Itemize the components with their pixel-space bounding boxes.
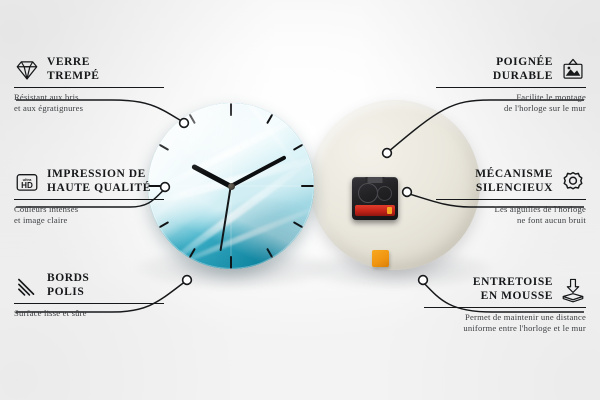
callout-title-line2: POLIS bbox=[47, 286, 89, 300]
callout-desc-line2: uniforme entre l'horloge et le mur bbox=[424, 323, 586, 334]
foam-spacer bbox=[372, 250, 389, 267]
ultra-hd-badge-icon: ultra HD bbox=[14, 169, 40, 195]
callout-desc-line1: Facilite le montage bbox=[436, 92, 586, 103]
callout-divider bbox=[14, 303, 164, 304]
callout-divider bbox=[436, 87, 586, 88]
callout-entretoise-en-mousse: ENTRETOISE EN MOUSSE Permet de maintenir… bbox=[424, 276, 586, 334]
callout-title-line2: DURABLE bbox=[493, 70, 553, 84]
callout-title-line1: MÉCANISME bbox=[475, 168, 553, 182]
callout-desc-line2: ne font aucun bruit bbox=[436, 215, 586, 226]
mechanism-dial-secondary-icon bbox=[377, 186, 392, 201]
diamond-icon bbox=[14, 57, 40, 83]
callout-divider bbox=[424, 307, 586, 308]
callout-desc-line1: Résistant aux bris bbox=[14, 92, 164, 103]
clock-front-view bbox=[148, 103, 314, 269]
battery bbox=[355, 205, 395, 216]
callout-divider bbox=[436, 199, 586, 200]
callout-mecanisme-silencieux: MÉCANISME SILENCIEUX Les aiguilles de l'… bbox=[436, 168, 586, 226]
gear-icon bbox=[560, 169, 586, 195]
wall-hanger-frame-icon bbox=[560, 57, 586, 83]
infographic-canvas: VERRE TREMPÉ Résistant aux bris et aux é… bbox=[0, 0, 600, 400]
ultra-hd-badge-main-label: HD bbox=[21, 181, 33, 190]
callout-desc-line1: Surface lisse et sûre bbox=[14, 308, 164, 319]
callout-poignee-durable: POIGNÉE DURABLE Facilite le montage de l… bbox=[436, 56, 586, 114]
callout-desc-line2: et image claire bbox=[14, 215, 164, 226]
mechanism-dial-icon bbox=[358, 183, 378, 203]
clock-mechanism bbox=[352, 177, 398, 220]
callout-title-line2: EN MOUSSE bbox=[473, 290, 553, 304]
callout-title-line1: IMPRESSION DE bbox=[47, 168, 151, 182]
polished-edges-icon bbox=[14, 273, 40, 299]
callout-title-line2: SILENCIEUX bbox=[475, 182, 553, 196]
callout-bords-polis: BORDS POLIS Surface lisse et sûre bbox=[14, 272, 164, 319]
foam-spacer-arrow-icon bbox=[560, 277, 586, 303]
callout-impression-haute-qualite: ultra HD IMPRESSION DE HAUTE QUALITÉ Cou… bbox=[14, 168, 164, 226]
callout-title-line1: POIGNÉE bbox=[493, 56, 553, 70]
callout-title-line1: ENTRETOISE bbox=[473, 276, 553, 290]
callout-title-line1: VERRE bbox=[47, 56, 100, 70]
callout-title-line1: BORDS bbox=[47, 272, 89, 286]
glass-reflection bbox=[148, 103, 314, 269]
callout-title-line2: TREMPÉ bbox=[47, 70, 100, 84]
callout-verre-trempe: VERRE TREMPÉ Résistant aux bris et aux é… bbox=[14, 56, 164, 114]
callout-desc-line1: Permet de maintenir une distance bbox=[424, 312, 586, 323]
callout-desc-line1: Les aiguilles de l'horloge bbox=[436, 204, 586, 215]
callout-divider bbox=[14, 199, 164, 200]
callout-desc-line2: et aux égratignures bbox=[14, 103, 164, 114]
callout-desc-line2: de l'horloge sur le mur bbox=[436, 103, 586, 114]
callout-title-line2: HAUTE QUALITÉ bbox=[47, 182, 151, 196]
callout-desc-line1: Couleurs intenses bbox=[14, 204, 164, 215]
callout-divider bbox=[14, 87, 164, 88]
